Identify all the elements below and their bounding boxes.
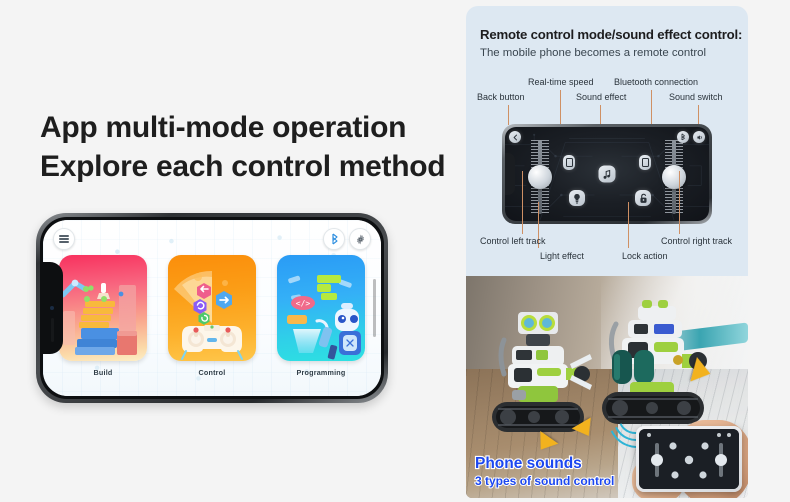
right-slider-knob[interactable] [662, 165, 686, 189]
label-light-effect: Light effect [540, 251, 584, 261]
card-label-build: Build [59, 368, 147, 377]
phone-notch [43, 262, 63, 354]
remote-panel-title: Remote control mode/sound effect control… [480, 27, 742, 42]
remote-phone-notch [505, 153, 515, 195]
label-bluetooth-connection: Bluetooth connection [614, 77, 698, 87]
gear-glyph [355, 234, 366, 245]
lightbulb-icon[interactable] [569, 190, 585, 206]
bluetooth-glyph [330, 233, 339, 245]
page-root: App multi-mode operation Explore each co… [0, 0, 790, 502]
label-sound-switch: Sound switch [669, 92, 723, 102]
label-sound-effect: Sound effect [576, 92, 626, 102]
gear-icon[interactable] [349, 228, 371, 250]
svg-text:</>: </> [296, 299, 311, 308]
mode-card-control[interactable]: Control [168, 255, 256, 365]
lock-icon[interactable] [635, 190, 651, 206]
speed-glyph-left [566, 158, 573, 167]
leader-control-right-track [679, 171, 680, 234]
programming-card-art: </> [277, 255, 365, 361]
home-indicator [373, 279, 376, 337]
build-illustration [59, 255, 147, 361]
leader-control-left-track [522, 171, 523, 234]
label-lock-action: Lock action [622, 251, 668, 261]
speed-indicator-icon-right[interactable] [639, 155, 651, 170]
card-label-programming: Programming [277, 368, 365, 377]
hamburger-glyph [59, 234, 69, 245]
left-slider-knob[interactable] [528, 165, 552, 189]
speed-glyph-right [642, 158, 649, 167]
label-back-button: Back button [477, 92, 525, 102]
product-photo: Phone sounds 3 types of sound control [466, 276, 748, 498]
held-phone [636, 426, 742, 492]
label-control-left-track: Control left track [480, 236, 546, 246]
remote-phone [502, 124, 712, 224]
build-card-art [59, 255, 147, 361]
label-real-time-speed: Real-time speed [528, 77, 594, 87]
sound-switch-glyph [696, 134, 703, 141]
headline-line-2: Explore each control method [40, 147, 450, 186]
mode-card-programming[interactable]: </> [277, 255, 365, 365]
control-illustration [168, 255, 256, 361]
music-note-icon[interactable] [599, 166, 616, 183]
music-note-glyph [603, 169, 612, 179]
phone-mockup: Build [36, 213, 388, 403]
phone-screen: Build [43, 220, 381, 396]
mode-cards: Build [43, 255, 381, 365]
sound-switch-icon[interactable] [693, 131, 705, 143]
page-title: App multi-mode operation Explore each co… [40, 108, 450, 186]
bluetooth-icon[interactable] [323, 228, 345, 250]
hamburger-menu-icon[interactable] [53, 228, 75, 250]
back-arrow-glyph [512, 134, 519, 141]
leader-bluetooth-v [651, 90, 652, 124]
remote-control-panel: Remote control mode/sound effect control… [466, 6, 748, 276]
label-control-right-track: Control right track [661, 236, 732, 246]
right-track-slider[interactable] [663, 140, 685, 214]
leader-back-button [508, 105, 509, 125]
card-label-control: Control [168, 368, 256, 377]
back-arrow-icon[interactable] [509, 131, 521, 143]
speed-indicator-icon-left[interactable] [563, 155, 575, 170]
caption-line-1: Phone sounds [475, 455, 614, 472]
photo-caption: Phone sounds 3 types of sound control [475, 455, 614, 488]
caption-line-2: 3 types of sound control [475, 474, 614, 488]
headline-line-1: App multi-mode operation [40, 108, 450, 147]
remote-panel-subtitle: The mobile phone becomes a remote contro… [480, 47, 706, 59]
held-phone-ui [639, 429, 739, 489]
lightbulb-glyph [573, 193, 581, 204]
leader-lock-action [628, 202, 629, 248]
programming-illustration: </> [277, 255, 365, 361]
held-phone-screen [639, 429, 739, 489]
front-camera-icon [50, 306, 54, 310]
mode-card-build[interactable]: Build [59, 255, 147, 365]
lock-glyph [639, 193, 648, 204]
phone-bezel: Build [40, 217, 384, 399]
earpiece-speaker-icon [51, 318, 54, 342]
control-card-art [168, 255, 256, 361]
app-topbar [43, 220, 381, 252]
left-track-slider[interactable] [529, 140, 551, 214]
